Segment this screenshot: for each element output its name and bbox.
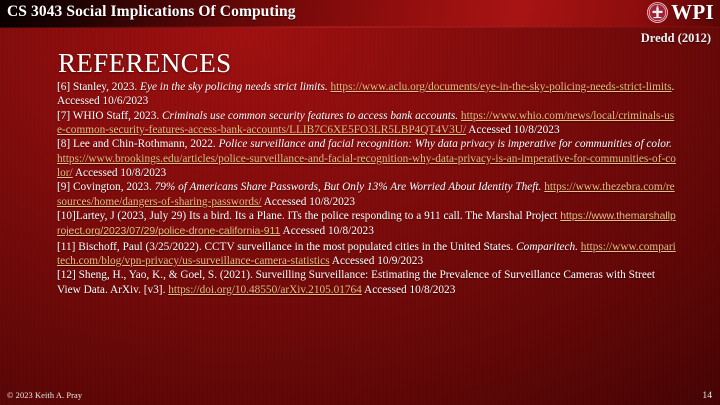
reference-text: [10]Lartey, J (2023, July 29) Its a bird… (57, 210, 560, 222)
slide-title: REFERENCES (58, 48, 232, 78)
presentation-slide: CS 3043 Social Implications Of Computing… (0, 0, 720, 405)
reference-text: Accessed 10/8/2023 (362, 284, 456, 296)
course-title: CS 3043 Social Implications Of Computing (7, 3, 296, 21)
reference-link[interactable]: https://doi.org/10.48550/arXiv.2105.0176… (168, 284, 362, 296)
reference-entry: [11] Bischoff, Paul (3/25/2022). CCTV su… (57, 240, 677, 269)
reference-text: [7] WHIO Staff, 2023. (57, 110, 162, 122)
reference-entry: [7] WHIO Staff, 2023. Criminals use comm… (57, 109, 677, 138)
reference-title: Criminals use common security features t… (162, 110, 458, 122)
reference-text: Accessed 10/8/2023 (73, 167, 167, 179)
reference-text: [9] Covington, 2023. (57, 181, 155, 193)
reference-text: Accessed 10/9/2023 (330, 255, 424, 267)
reference-text: Accessed 10/8/2023 (466, 124, 560, 136)
reference-link[interactable]: https://www.aclu.org/documents/eye-in-th… (331, 81, 672, 93)
reference-title: 79% of Americans Share Passwords, But On… (155, 181, 542, 193)
film-credit-caption: Dredd (2012) (641, 31, 711, 46)
reference-entry: [12] Sheng, H., Yao, K., & Goel, S. (202… (57, 268, 677, 297)
wpi-seal-icon (647, 2, 668, 23)
wpi-wordmark: WPI (671, 2, 714, 23)
reference-text: [11] Bischoff, Paul (3/25/2022). CCTV su… (57, 241, 516, 253)
references-list: [6] Stanley, 2023. Eye in the sky polici… (57, 80, 677, 297)
footer-copyright: © 2023 Keith A. Pray (7, 391, 82, 400)
reference-entry: [6] Stanley, 2023. Eye in the sky polici… (57, 80, 677, 109)
reference-text: Accessed 10/8/2023 (262, 196, 356, 208)
reference-title: Comparitech. (516, 241, 578, 253)
slide-header-divider (0, 26, 720, 28)
reference-title: Police surveillance and facial recogniti… (219, 138, 672, 150)
reference-text: Accessed 10/8/2023 (280, 225, 374, 237)
reference-title: Eye in the sky policing needs strict lim… (140, 81, 328, 93)
footer-page-number: 14 (702, 390, 712, 401)
reference-entry: [10]Lartey, J (2023, July 29) Its a bird… (57, 209, 677, 240)
reference-entry: [8] Lee and Chin-Rothmann, 2022. Police … (57, 137, 677, 180)
reference-text: [6] Stanley, 2023. (57, 81, 140, 93)
reference-entry: [9] Covington, 2023. 79% of Americans Sh… (57, 180, 677, 209)
wpi-logo-lockup: WPI (647, 2, 714, 23)
reference-text: [8] Lee and Chin-Rothmann, 2022. (57, 138, 219, 150)
